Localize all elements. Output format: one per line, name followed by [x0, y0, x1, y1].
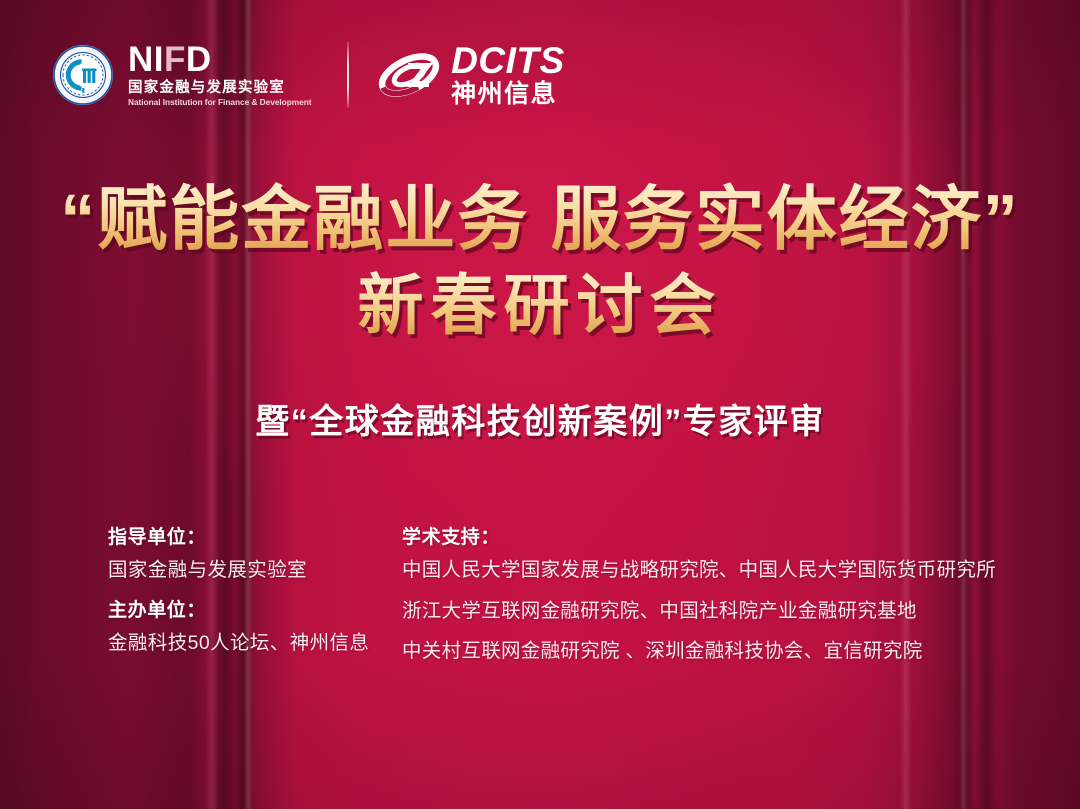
vertical-divider-icon: [347, 42, 349, 108]
logo-bar: NIFD 国家金融与发展实验室 National Institution for…: [52, 36, 565, 114]
headline-line-2: 新春研讨会: [0, 270, 1080, 341]
nifd-chinese-name: 国家金融与发展实验室: [128, 80, 317, 97]
credits-left-column: 指导单位： 国家金融与发展实验室 主办单位： 金融科技50人论坛、神州信息: [108, 528, 402, 653]
academic-support-line: 浙江大学互联网金融研究院、中国社科院产业金融研究基地: [402, 602, 1028, 622]
headline-group: “赋能金融业务 服务实体经济” 新春研讨会: [0, 182, 1080, 341]
dcits-wordmark: DCITS 神州信息: [451, 42, 565, 109]
nifd-english-name: National Institution for Finance & Devel…: [128, 98, 311, 108]
dcits-chinese-name: 神州信息: [451, 81, 565, 109]
nifd-wordmark: NIFD 国家金融与发展实验室 National Institution for…: [128, 42, 317, 109]
dcits-swirl-logo-icon: [377, 44, 441, 106]
nifd-circular-emblem-icon: [52, 44, 114, 106]
dcits-acronym: DCITS: [451, 42, 565, 79]
dcits-logo: DCITS 神州信息: [377, 42, 565, 109]
nifd-logo: NIFD 国家金融与发展实验室 National Institution for…: [52, 42, 317, 109]
credits-block: 指导单位： 国家金融与发展实验室 主办单位： 金融科技50人论坛、神州信息 学术…: [108, 528, 1028, 662]
credits-spacer: [108, 581, 402, 601]
academic-support-label: 学术支持：: [402, 528, 1028, 547]
credits-right-column: 学术支持： 中国人民大学国家发展与战略研究院、中国人民大学国际货币研究所 浙江大…: [402, 528, 1028, 662]
headline-line-1: “赋能金融业务 服务实体经济”: [0, 182, 1080, 258]
poster-subtitle: 暨“全球金融科技创新案例”专家评审: [0, 394, 1080, 443]
event-poster: NIFD 国家金融与发展实验室 National Institution for…: [0, 0, 1080, 809]
organizer-unit-label: 主办单位：: [108, 601, 402, 620]
guidance-unit-value: 国家金融与发展实验室: [108, 561, 402, 581]
organizer-unit-value: 金融科技50人论坛、神州信息: [108, 634, 402, 654]
academic-support-line: 中关村互联网金融研究院 、深圳金融科技协会、宜信研究院: [402, 642, 1028, 662]
nifd-acronym: NIFD: [128, 40, 212, 79]
guidance-unit-label: 指导单位：: [108, 528, 402, 547]
academic-support-line: 中国人民大学国家发展与战略研究院、中国人民大学国际货币研究所: [402, 561, 1028, 581]
